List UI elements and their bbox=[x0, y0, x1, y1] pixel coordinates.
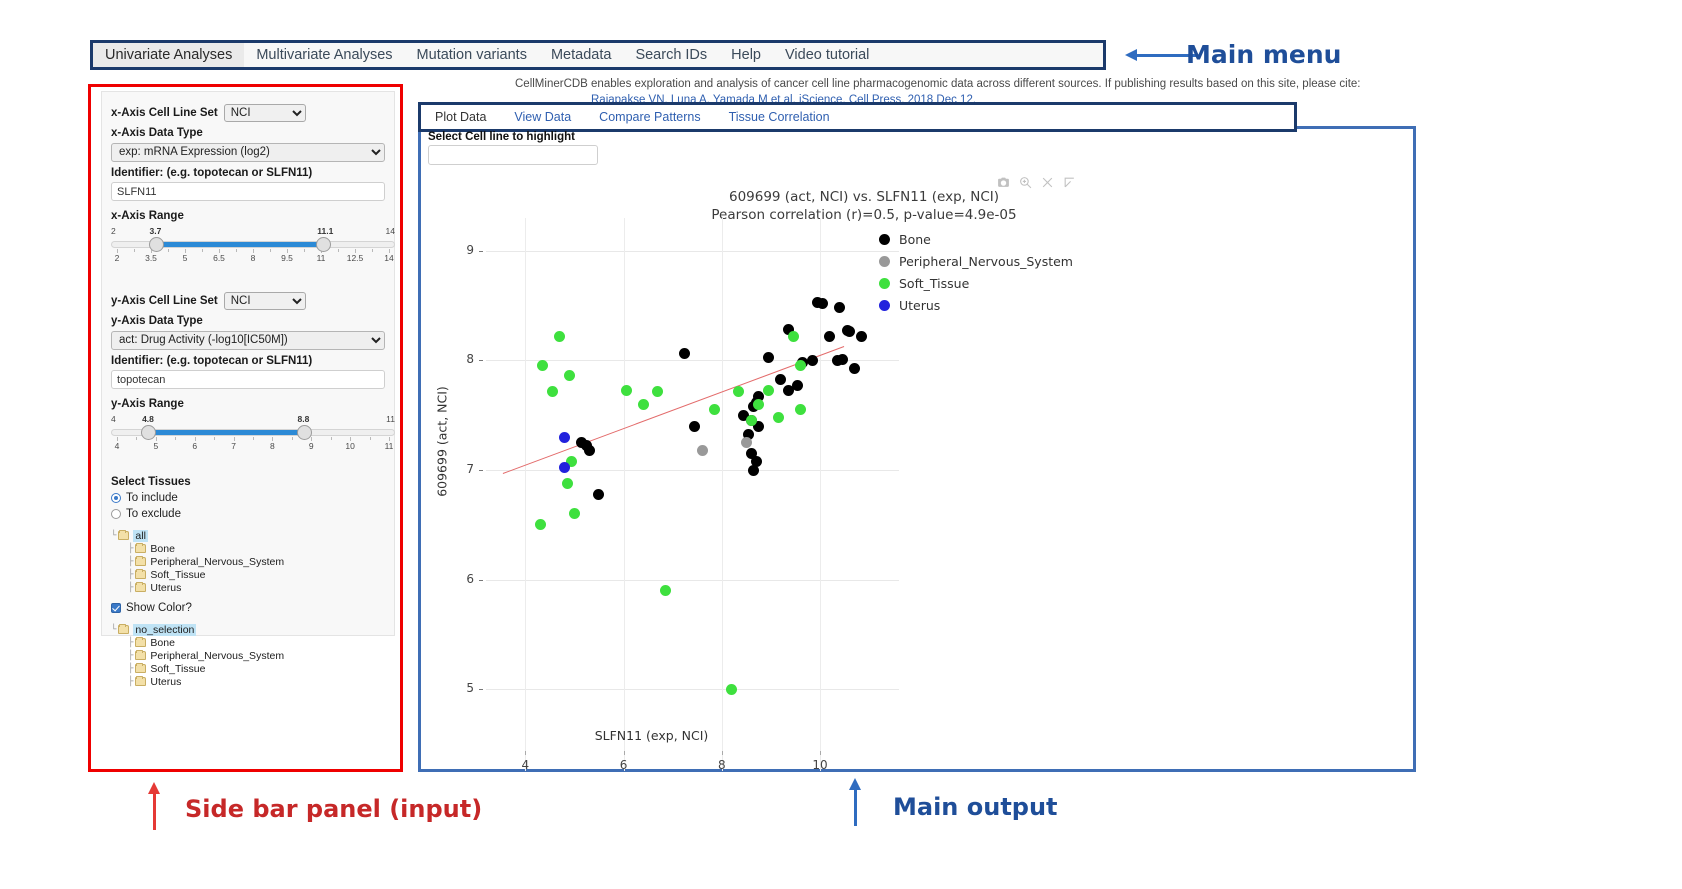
y-range-slider-fill bbox=[148, 430, 303, 435]
y-range-slider-max-label: 11 bbox=[386, 414, 395, 424]
sub-menu-item-label: Plot Data bbox=[435, 110, 486, 124]
y-axis-tick-label: 5 bbox=[444, 681, 474, 695]
y-cellline-label: y-Axis Cell Line Set bbox=[111, 295, 218, 307]
tree-root-label: no_selection bbox=[133, 624, 196, 636]
legend-color-dot bbox=[879, 278, 890, 289]
main-menu-item-label: Metadata bbox=[551, 47, 611, 63]
tree-expander-icon[interactable]: └ bbox=[111, 625, 116, 635]
tree-child-row[interactable]: ├Bone bbox=[128, 542, 385, 555]
tree-branch-icon: ├ bbox=[128, 557, 133, 567]
legend-color-dot bbox=[879, 300, 890, 311]
y-cellline-select[interactable]: NCI bbox=[224, 292, 306, 310]
grid-line-horizontal bbox=[486, 251, 899, 252]
x-cellline-row: x-Axis Cell Line Set NCI bbox=[111, 104, 385, 122]
tree-child-row[interactable]: ├Uterus bbox=[128, 675, 385, 688]
citation-line-1: CellMinerCDB enables exploration and ana… bbox=[515, 78, 1510, 90]
y-identifier-input[interactable] bbox=[111, 370, 385, 389]
annotation-main-menu: Main menu bbox=[1186, 40, 1341, 69]
tree-child-row[interactable]: ├Soft_Tissue bbox=[128, 662, 385, 675]
x-axis-tick-mark bbox=[722, 751, 723, 755]
main-menu-item-metadata[interactable]: Metadata bbox=[539, 43, 623, 67]
main-output-arrow bbox=[853, 778, 857, 826]
sub-menu-item-label: Compare Patterns bbox=[599, 110, 700, 124]
legend-item[interactable]: Bone bbox=[879, 228, 1073, 250]
legend-label: Bone bbox=[899, 232, 931, 247]
main-menu-item-search-ids[interactable]: Search IDs bbox=[623, 43, 719, 67]
y-axis-label: 609699 (act, NCI) bbox=[435, 362, 450, 522]
scatter-point[interactable] bbox=[817, 298, 828, 309]
y-range-slider-tick-label: 9 bbox=[309, 441, 314, 451]
y-range-slider-handle-label-low: 4.8 bbox=[142, 414, 154, 424]
scatter-point[interactable] bbox=[709, 404, 720, 415]
folder-icon bbox=[135, 677, 146, 686]
legend-label: Uterus bbox=[899, 298, 940, 313]
tree-child-row[interactable]: ├Peripheral_Nervous_System bbox=[128, 649, 385, 662]
x-range-slider-fill bbox=[156, 242, 324, 247]
grid-line-horizontal bbox=[486, 689, 899, 690]
main-menu-item-video-tutorial[interactable]: Video tutorial bbox=[773, 43, 881, 67]
scatter-point[interactable] bbox=[763, 352, 774, 363]
legend-item[interactable]: Uterus bbox=[879, 294, 1073, 316]
main-menu-bar: Univariate AnalysesMultivariate Analyses… bbox=[90, 40, 1106, 70]
folder-icon bbox=[118, 625, 129, 634]
x-cellline-label: x-Axis Cell Line Set bbox=[111, 107, 218, 119]
tree-child-row[interactable]: ├Soft_Tissue bbox=[128, 568, 385, 581]
scatter-point[interactable] bbox=[788, 331, 799, 342]
x-range-slider-tick-label: 14 bbox=[384, 253, 393, 263]
legend-label: Peripheral_Nervous_System bbox=[899, 254, 1073, 269]
sidebar-panel: x-Axis Cell Line Set NCI x-Axis Data Typ… bbox=[88, 84, 403, 772]
main-menu-item-mutation-variants[interactable]: Mutation variants bbox=[405, 43, 539, 67]
y-axis-tick-mark bbox=[479, 360, 483, 361]
select-tissues-label: Select Tissues bbox=[111, 476, 385, 488]
annotation-sidebar: Side bar panel (input) bbox=[185, 795, 482, 823]
scatter-point[interactable] bbox=[807, 355, 818, 366]
y-range-slider-tick-label: 4 bbox=[115, 441, 120, 451]
tree-child-row[interactable]: ├Peripheral_Nervous_System bbox=[128, 555, 385, 568]
tree-root-row[interactable]: └all bbox=[111, 529, 385, 542]
grid-line-vertical bbox=[722, 218, 723, 771]
x-range-slider-tick-label: 5 bbox=[183, 253, 188, 263]
radio-to-exclude[interactable]: To exclude bbox=[111, 508, 385, 520]
scatter-plot: 609699 (act, NCI) vs. SLFN11 (exp, NCI) … bbox=[424, 166, 1410, 768]
main-menu-item-label: Video tutorial bbox=[785, 47, 869, 63]
y-range-slider-handle-high[interactable] bbox=[297, 425, 312, 440]
x-identifier-input[interactable] bbox=[111, 182, 385, 201]
x-range-slider[interactable]: 23.556.589.51112.5142143.711.1 bbox=[111, 226, 395, 266]
y-range-slider-handle-label-high: 8.8 bbox=[298, 414, 310, 424]
grid-line-horizontal bbox=[486, 470, 899, 471]
y-range-slider-tick-label: 8 bbox=[270, 441, 275, 451]
scatter-point[interactable] bbox=[559, 462, 570, 473]
main-menu-item-label: Univariate Analyses bbox=[105, 47, 232, 63]
main-menu-item-multivariate-analyses[interactable]: Multivariate Analyses bbox=[244, 43, 404, 67]
scatter-point[interactable] bbox=[689, 421, 700, 432]
y-axis-tick-label: 9 bbox=[444, 243, 474, 257]
tissue-tree-include[interactable]: └all├Bone├Peripheral_Nervous_System├Soft… bbox=[111, 529, 385, 594]
legend-color-dot bbox=[879, 234, 890, 245]
x-axis-label: SLFN11 (exp, NCI) bbox=[424, 728, 879, 743]
x-axis-tick-mark bbox=[624, 751, 625, 755]
sub-menu-item-view-data[interactable]: View Data bbox=[500, 105, 585, 129]
scatter-point[interactable] bbox=[741, 437, 752, 448]
scatter-point[interactable] bbox=[792, 380, 803, 391]
y-axis-tick-mark bbox=[479, 251, 483, 252]
tree-branch-icon: ├ bbox=[128, 677, 133, 687]
legend-item[interactable]: Soft_Tissue bbox=[879, 272, 1073, 294]
sub-menu-bar: Plot DataView DataCompare PatternsTissue… bbox=[418, 102, 1297, 132]
tree-child-label: Bone bbox=[150, 543, 175, 555]
x-datatype-select[interactable]: exp: mRNA Expression (log2) bbox=[111, 143, 385, 162]
tree-child-label: Soft_Tissue bbox=[150, 663, 205, 675]
grid-line-vertical bbox=[624, 218, 625, 771]
tree-branch-icon: ├ bbox=[128, 544, 133, 554]
scatter-point[interactable] bbox=[763, 385, 774, 396]
scatter-point[interactable] bbox=[775, 374, 786, 385]
sub-menu-item-tissue-correlation[interactable]: Tissue Correlation bbox=[715, 105, 844, 129]
annotation-main-output: Main output bbox=[893, 793, 1058, 821]
sub-menu-items: Plot DataView DataCompare PatternsTissue… bbox=[421, 105, 1294, 129]
folder-icon bbox=[135, 557, 146, 566]
sidebar-inner: x-Axis Cell Line Set NCI x-Axis Data Typ… bbox=[101, 91, 395, 636]
main-menu-item-help[interactable]: Help bbox=[719, 43, 773, 67]
y-datatype-label: y-Axis Data Type bbox=[111, 315, 385, 327]
tissue-tree-exclude[interactable]: └no_selection├Bone├Peripheral_Nervous_Sy… bbox=[111, 623, 385, 688]
tree-child-label: Soft_Tissue bbox=[150, 569, 205, 581]
sidebar-arrow bbox=[152, 782, 156, 830]
radio-to-include[interactable]: To include bbox=[111, 492, 385, 504]
scatter-point[interactable] bbox=[844, 326, 855, 337]
folder-icon bbox=[135, 664, 146, 673]
y-axis-tick-label: 6 bbox=[444, 572, 474, 586]
x-range-slider-tick-label: 8 bbox=[251, 253, 256, 263]
tree-root-label: all bbox=[133, 530, 148, 542]
scatter-point[interactable] bbox=[834, 302, 845, 313]
y-axis-tick-mark bbox=[479, 580, 483, 581]
x-range-slider-tick-label: 3.5 bbox=[145, 253, 157, 263]
tree-expander-icon[interactable]: └ bbox=[111, 531, 116, 541]
y-range-slider-tick-label: 6 bbox=[192, 441, 197, 451]
tree-child-label: Bone bbox=[150, 637, 175, 649]
scatter-point[interactable] bbox=[562, 478, 573, 489]
sub-menu-item-plot-data[interactable]: Plot Data bbox=[421, 105, 500, 129]
scatter-point[interactable] bbox=[569, 508, 580, 519]
scatter-point[interactable] bbox=[746, 415, 757, 426]
y-range-slider-tick-label: 5 bbox=[153, 441, 158, 451]
show-color-checkbox[interactable]: Show Color? bbox=[111, 602, 385, 614]
legend-item[interactable]: Peripheral_Nervous_System bbox=[879, 250, 1073, 272]
radio-include-icon bbox=[111, 493, 121, 503]
scatter-point[interactable] bbox=[773, 412, 784, 423]
x-range-slider-tick-label: 12.5 bbox=[347, 253, 364, 263]
scatter-point[interactable] bbox=[593, 489, 604, 500]
regression-trendline bbox=[503, 346, 845, 474]
tree-root-row[interactable]: └no_selection bbox=[111, 623, 385, 636]
scatter-point[interactable] bbox=[660, 585, 671, 596]
main-menu-item-label: Help bbox=[731, 47, 761, 63]
y-range-slider-min-label: 4 bbox=[111, 414, 116, 424]
x-range-slider-max-label: 14 bbox=[386, 226, 395, 236]
plot-legend: BonePeripheral_Nervous_SystemSoft_Tissue… bbox=[879, 228, 1073, 316]
x-axis-tick-label: 8 bbox=[710, 758, 734, 772]
radio-exclude-icon bbox=[111, 509, 121, 519]
x-axis-tick-mark bbox=[525, 751, 526, 755]
tree-child-label: Uterus bbox=[150, 676, 181, 688]
scatter-point[interactable] bbox=[795, 404, 806, 415]
scatter-point[interactable] bbox=[554, 331, 565, 342]
y-axis-tick-mark bbox=[479, 470, 483, 471]
x-axis-tick-label: 6 bbox=[612, 758, 636, 772]
scatter-point[interactable] bbox=[748, 465, 759, 476]
x-range-slider-tick-label: 11 bbox=[317, 253, 326, 263]
y-range-slider-tick-label: 11 bbox=[385, 441, 394, 451]
x-range-slider-tick-label: 6.5 bbox=[213, 253, 225, 263]
checkbox-icon bbox=[111, 603, 121, 613]
scatter-point[interactable] bbox=[621, 385, 632, 396]
x-axis-tick-label: 4 bbox=[513, 758, 537, 772]
plot-canvas: 5678946810 bbox=[424, 166, 1304, 766]
scatter-point[interactable] bbox=[697, 445, 708, 456]
legend-label: Soft_Tissue bbox=[899, 276, 969, 291]
main-menu-item-label: Mutation variants bbox=[417, 47, 527, 63]
main-menu-items: Univariate AnalysesMultivariate Analyses… bbox=[93, 43, 1103, 67]
folder-icon bbox=[118, 531, 129, 540]
sub-menu-item-compare-patterns[interactable]: Compare Patterns bbox=[585, 105, 714, 129]
y-range-slider-tick-label: 7 bbox=[231, 441, 236, 451]
scatter-point[interactable] bbox=[837, 354, 848, 365]
folder-icon bbox=[135, 651, 146, 660]
folder-icon bbox=[135, 544, 146, 553]
x-range-slider-handle-label-high: 11.1 bbox=[317, 226, 333, 236]
sub-menu-item-label: Tissue Correlation bbox=[729, 110, 830, 124]
tree-branch-icon: ├ bbox=[128, 570, 133, 580]
radio-exclude-label: To exclude bbox=[126, 508, 181, 520]
main-menu-item-univariate-analyses[interactable]: Univariate Analyses bbox=[93, 43, 244, 67]
x-cellline-select[interactable]: NCI bbox=[224, 104, 306, 122]
tree-branch-icon: ├ bbox=[128, 664, 133, 674]
scatter-point[interactable] bbox=[584, 445, 595, 456]
scatter-point[interactable] bbox=[652, 386, 663, 397]
scatter-point[interactable] bbox=[783, 385, 794, 396]
x-range-slider-handle-label-low: 3.7 bbox=[150, 226, 162, 236]
x-axis-tick-mark bbox=[820, 751, 821, 755]
folder-icon bbox=[135, 638, 146, 647]
show-color-label: Show Color? bbox=[126, 602, 192, 614]
scatter-point[interactable] bbox=[535, 519, 546, 530]
x-range-label: x-Axis Range bbox=[111, 210, 385, 222]
tree-branch-icon: ├ bbox=[128, 583, 133, 593]
highlight-cellline-label: Select Cell line to highlight bbox=[428, 131, 575, 143]
x-datatype-label: x-Axis Data Type bbox=[111, 127, 385, 139]
tree-branch-icon: ├ bbox=[128, 651, 133, 661]
x-range-slider-min-label: 2 bbox=[111, 226, 116, 236]
legend-color-dot bbox=[879, 256, 890, 267]
y-identifier-label: Identifier: (e.g. topotecan or SLFN11) bbox=[111, 355, 385, 367]
y-range-label: y-Axis Range bbox=[111, 398, 385, 410]
tree-child-label: Uterus bbox=[150, 582, 181, 594]
scatter-point[interactable] bbox=[638, 399, 649, 410]
x-identifier-label: Identifier: (e.g. topotecan or SLFN11) bbox=[111, 167, 385, 179]
tree-branch-icon: ├ bbox=[128, 638, 133, 648]
tree-child-label: Peripheral_Nervous_System bbox=[150, 650, 284, 662]
x-range-slider-tick-label: 2 bbox=[115, 253, 120, 263]
scatter-point[interactable] bbox=[856, 331, 867, 342]
tree-child-label: Peripheral_Nervous_System bbox=[150, 556, 284, 568]
main-menu-item-label: Search IDs bbox=[635, 47, 707, 63]
tree-child-row[interactable]: ├Bone bbox=[128, 636, 385, 649]
sub-menu-item-label: View Data bbox=[514, 110, 571, 124]
grid-line-vertical bbox=[525, 218, 526, 771]
tree-child-row[interactable]: ├Uterus bbox=[128, 581, 385, 594]
y-datatype-select[interactable]: act: Drug Activity (-log10[IC50M]) bbox=[111, 331, 385, 350]
scatter-point[interactable] bbox=[726, 684, 737, 695]
folder-icon bbox=[135, 570, 146, 579]
scatter-point[interactable] bbox=[753, 399, 764, 410]
scatter-point[interactable] bbox=[547, 386, 558, 397]
scatter-point[interactable] bbox=[849, 363, 860, 374]
scatter-point[interactable] bbox=[564, 370, 575, 381]
y-range-slider-handle-low[interactable] bbox=[141, 425, 156, 440]
y-cellline-row: y-Axis Cell Line Set NCI bbox=[111, 292, 385, 310]
y-range-slider-tick-label: 10 bbox=[345, 441, 354, 451]
radio-include-label: To include bbox=[126, 492, 178, 504]
grid-line-horizontal bbox=[486, 580, 899, 581]
x-range-slider-tick-label: 9.5 bbox=[281, 253, 293, 263]
x-range-slider-handle-low[interactable] bbox=[149, 237, 164, 252]
highlight-cellline-input[interactable] bbox=[428, 145, 598, 165]
x-axis-tick-label: 10 bbox=[808, 758, 832, 772]
scatter-point[interactable] bbox=[679, 348, 690, 359]
y-axis-tick-mark bbox=[479, 689, 483, 690]
scatter-point[interactable] bbox=[824, 331, 835, 342]
main-menu-item-label: Multivariate Analyses bbox=[256, 47, 392, 63]
scatter-point[interactable] bbox=[795, 360, 806, 371]
y-range-slider[interactable]: 45678910114114.88.8 bbox=[111, 414, 395, 454]
scatter-point[interactable] bbox=[537, 360, 548, 371]
scatter-point[interactable] bbox=[733, 386, 744, 397]
scatter-point[interactable] bbox=[559, 432, 570, 443]
folder-icon bbox=[135, 583, 146, 592]
